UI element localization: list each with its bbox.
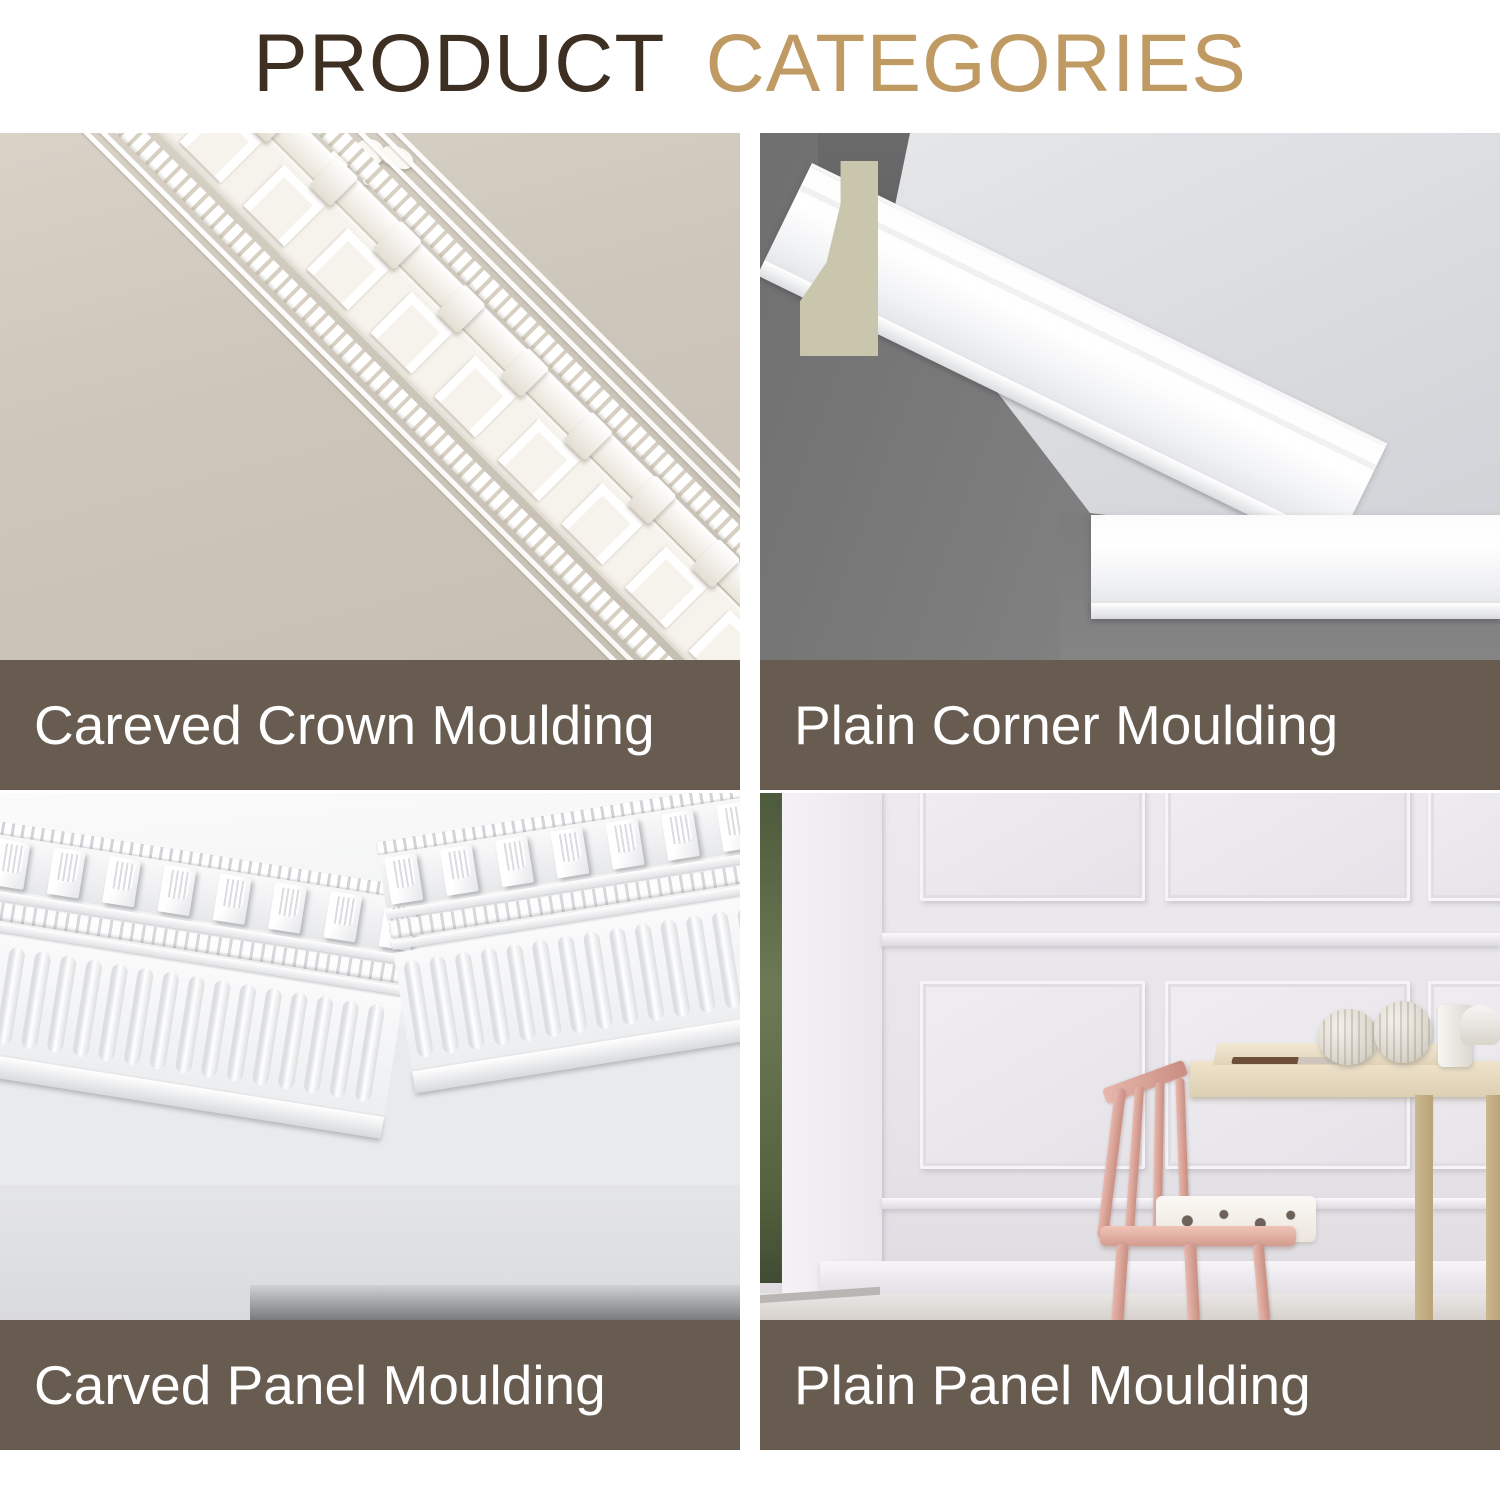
chair-leg xyxy=(1184,1244,1200,1320)
category-image-plain-panel-moulding xyxy=(760,793,1500,1320)
moulding-arm-left xyxy=(0,133,740,660)
chair-spindle xyxy=(1097,1088,1126,1238)
pumpkin xyxy=(1318,1009,1378,1065)
door-jamb xyxy=(782,793,882,1303)
chair-seat xyxy=(1100,1226,1296,1246)
dining-chair xyxy=(1100,1078,1310,1318)
category-image-carved-crown-moulding xyxy=(0,133,740,660)
category-card-carved-panel-moulding[interactable]: Carved Panel Moulding xyxy=(0,793,740,1452)
category-label: Plain Panel Moulding xyxy=(760,1358,1311,1413)
table-leg xyxy=(1415,1095,1433,1320)
page-title-product: PRODUCT xyxy=(253,23,665,105)
table-leg xyxy=(1486,1095,1500,1320)
category-label: Careved Crown Moulding xyxy=(0,698,655,753)
chair-rail xyxy=(882,933,1500,946)
crown-moulding-corner xyxy=(0,133,740,660)
chair-spindle xyxy=(1125,1086,1144,1234)
cornice-run-left xyxy=(0,821,410,1183)
product-categories-page: PRODUCT CATEGORIES xyxy=(0,0,1500,1500)
category-card-carved-crown-moulding[interactable]: Careved Crown Moulding xyxy=(0,133,740,792)
page-header: PRODUCT CATEGORIES xyxy=(0,0,1500,128)
wall-panel xyxy=(1165,793,1410,901)
category-grid: Careved Crown Moulding Plain Corne xyxy=(0,133,1500,1452)
chair-leg xyxy=(1111,1244,1128,1320)
crown-moulding-diagonal xyxy=(812,163,1500,523)
window-foliage xyxy=(760,793,782,1283)
category-caption-plain-panel-moulding: Plain Panel Moulding xyxy=(760,1320,1500,1450)
page-title-categories: CATEGORIES xyxy=(705,23,1247,105)
category-label: Carved Panel Moulding xyxy=(0,1358,606,1413)
category-image-plain-corner-moulding xyxy=(760,133,1500,660)
wall-panel xyxy=(1428,793,1500,901)
chair-leg xyxy=(1253,1244,1271,1320)
category-caption-plain-corner-moulding: Plain Corner Moulding xyxy=(760,660,1500,790)
category-card-plain-panel-moulding[interactable]: Plain Panel Moulding xyxy=(760,793,1500,1452)
category-card-plain-corner-moulding[interactable]: Plain Corner Moulding xyxy=(760,133,1500,792)
category-image-carved-panel-moulding xyxy=(0,793,740,1320)
kettle xyxy=(1460,1005,1500,1045)
crown-moulding-horizontal xyxy=(1091,515,1500,613)
floor-strip xyxy=(250,1285,740,1320)
cornice-run-right xyxy=(376,793,740,1139)
crown-moulding-lip xyxy=(1091,603,1500,619)
page-title: PRODUCT CATEGORIES xyxy=(253,23,1247,105)
category-caption-carved-crown-moulding: Careved Crown Moulding xyxy=(0,660,740,790)
category-caption-carved-panel-moulding: Carved Panel Moulding xyxy=(0,1320,740,1450)
carved-cornice xyxy=(0,793,740,1193)
pumpkin xyxy=(1374,1001,1432,1063)
wall-panel xyxy=(920,793,1145,901)
category-label: Plain Corner Moulding xyxy=(760,698,1338,753)
